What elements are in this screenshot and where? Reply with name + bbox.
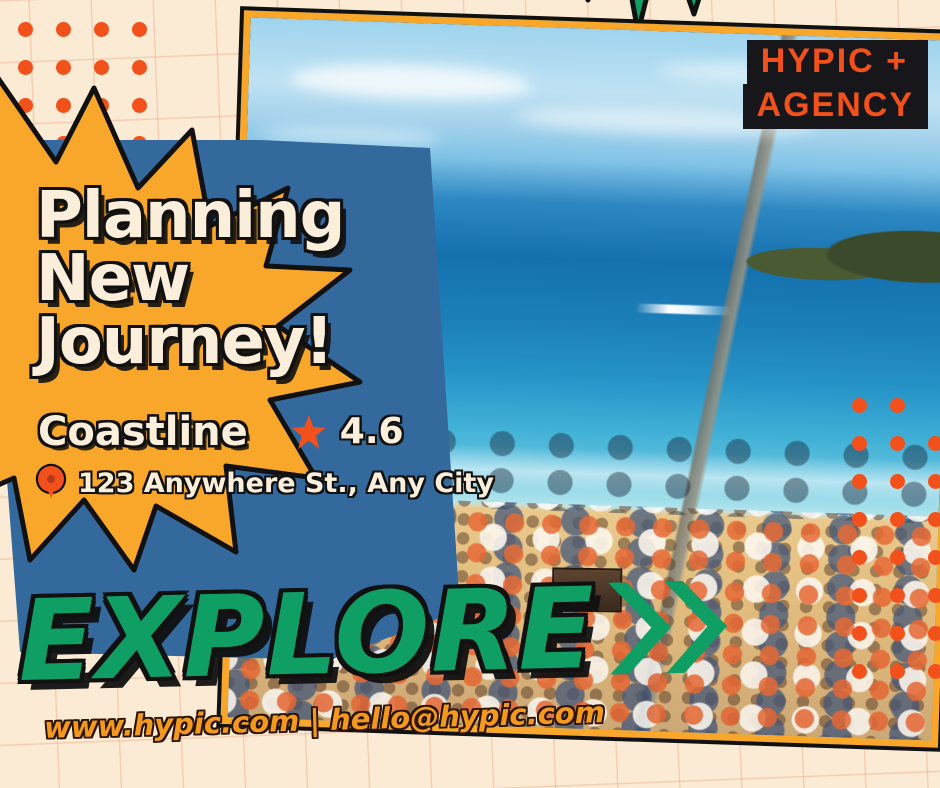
place-rating-row: Coastline 4.6 [38, 412, 458, 452]
chevron-right-icon [608, 581, 672, 674]
explore-label: EXPLORE [17, 573, 597, 698]
brand-badge[interactable]: HYPIC + AGENCY [743, 40, 928, 129]
decorative-dot [852, 512, 867, 527]
headline-line-2: New [36, 249, 556, 310]
decorative-dot [890, 664, 905, 679]
right-dot-pattern [852, 398, 940, 702]
decorative-dot [56, 22, 71, 37]
photo-boat [635, 303, 731, 315]
decorative-dot [852, 550, 867, 565]
place-name: Coastline [38, 412, 248, 452]
location-pin-icon [38, 466, 64, 500]
address-row: 123 Anywhere St., Any City [38, 466, 458, 500]
decorative-dot [852, 588, 867, 603]
headline-line-1: Planning [36, 186, 556, 247]
explore-cta[interactable]: EXPLORE [17, 570, 729, 698]
rating-group: 4.6 [292, 414, 404, 450]
decorative-dot [928, 588, 940, 603]
decorative-dot [928, 512, 940, 527]
star-icon [292, 415, 326, 449]
address-text: 123 Anywhere St., Any City [78, 470, 494, 497]
decorative-dot [928, 550, 940, 565]
decorative-dot [18, 22, 33, 37]
decorative-dot [132, 22, 147, 37]
decorative-dot [852, 398, 867, 413]
decorative-dot [852, 436, 867, 451]
decorative-dot [890, 398, 905, 413]
decorative-dot [890, 474, 905, 489]
decorative-dot [890, 626, 905, 641]
decorative-dot [890, 588, 905, 603]
location-meta-block: Coastline 4.6 123 Anywhere St., Any City [38, 412, 458, 500]
decorative-dot [890, 436, 905, 451]
decorative-dot [852, 664, 867, 679]
decorative-dot [852, 474, 867, 489]
headline-block: Planning New Journey! [36, 186, 556, 374]
brand-badge-line-1: HYPIC + [747, 40, 928, 86]
chevron-group [614, 580, 728, 675]
rating-value: 4.6 [340, 414, 404, 450]
brand-badge-line-2: AGENCY [743, 84, 928, 130]
decorative-dot [852, 626, 867, 641]
decorative-dot [928, 664, 940, 679]
decorative-dot [928, 436, 940, 451]
decorative-dot [890, 512, 905, 527]
poster-canvas: HYPIC + AGENCY Planning New Journey! Coa… [0, 0, 940, 788]
headline-line-3: Journey! [36, 312, 556, 373]
decorative-dot [928, 474, 940, 489]
chevron-right-icon [664, 580, 728, 673]
decorative-dot [94, 22, 109, 37]
decorative-dot [890, 550, 905, 565]
decorative-dot [928, 626, 940, 641]
